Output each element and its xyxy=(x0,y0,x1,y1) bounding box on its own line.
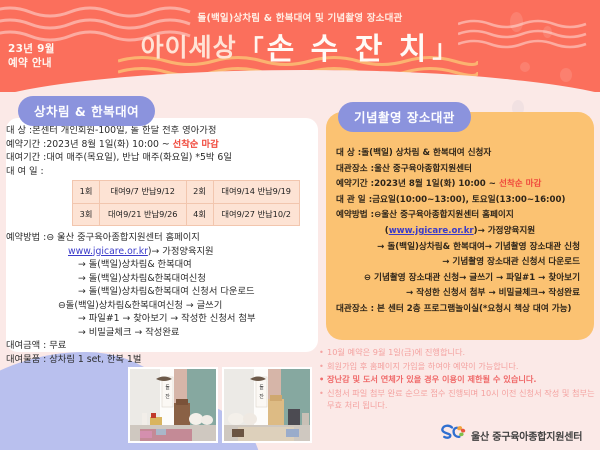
header-title-main: 손 수 잔 치 xyxy=(267,32,430,67)
note-item: 10월 예약은 9월 1일(금)에 진행합니다. xyxy=(318,346,596,359)
left-method-line-1: www.jgicare.or.kr)→ 가정양육지원 xyxy=(6,245,318,259)
right-line-method-value: ⊖울산 중구육아종합지원센터 홈페이지 xyxy=(374,210,514,220)
right-method-text-0: )→ 가정양육지원 xyxy=(474,226,536,236)
right-panel-title-pill: 기념촬영 장소대관 xyxy=(338,102,471,132)
right-method-line-3: ⊖ 기념촬영 장소대관 신청→ 글쓰기 → 파일#1 → 찾아보기 xyxy=(326,271,594,287)
homepage-link[interactable]: www.jgicare.or.kr xyxy=(389,226,474,236)
left-panel-title-pill: 상차림 & 한복대여 xyxy=(18,96,155,126)
svg-text:잔: 잔 xyxy=(165,393,170,400)
left-line-period: 예약기간 : 2023년 8월 1일(화) 10:00 ~ 선착순 마감 xyxy=(6,138,318,152)
sc-swirl-logo-icon xyxy=(440,424,466,446)
right-panel-content: 대 상 : 돌(백일) 상차림 & 한복대여 신청자 대관장소 : 울산 중구육… xyxy=(326,118,594,318)
homepage-link[interactable]: www.jgicare.or.kr xyxy=(68,246,148,257)
left-fee-line: 대여금액 : 무료 xyxy=(6,339,318,353)
left-line-target-label: 대 상 : xyxy=(6,124,32,138)
cell-round-1: 1회 xyxy=(73,181,100,204)
left-method-text-0: ⊖ 울산 중구육아종합지원센터 홈페이지 xyxy=(46,232,200,243)
left-line-period-highlight: 선착순 마감 xyxy=(173,139,219,150)
header-bottom-curve xyxy=(0,70,600,92)
right-line-venue-value: 울산 중구육아종합지원센터 xyxy=(374,164,472,174)
right-venue-line: 대관장소 : 본 센터 2층 프로그램놀이실(*요청시 책상 대여 가능) xyxy=(326,302,594,318)
left-method-line-6: → 파일#1 → 찾아보기 → 작성한 신청서 첨부 xyxy=(6,312,318,326)
left-line-target-value: 본센터 개인회원-100일, 돌 한달 전후 영아가정 xyxy=(32,125,216,136)
left-line-rental-period: 대여기간 : 대여 매주(목요일), 반납 매주(화요일) *5박 6일 xyxy=(6,151,318,165)
cell-dates-3: 대여9/21 반납9/26 xyxy=(100,203,187,226)
right-line-method: 예약방법 : ⊖울산 중구육아종합지원센터 홈페이지 xyxy=(326,208,594,224)
svg-text:돌: 돌 xyxy=(165,385,170,391)
note-item: 장난감 및 도서 연체가 있을 경우 이용이 제한될 수 있습니다. xyxy=(318,373,596,386)
right-method-line-4: → 작성한 신청서 첨부 → 비밀글체크→ 작성완료 xyxy=(326,286,594,302)
table-row: 3회 대여9/21 반납9/26 4회 대여9/27 반납10/2 xyxy=(73,203,300,226)
left-line-rental-date-label: 대 여 일 : xyxy=(6,165,44,179)
poster-header: 23년 9월 예약 안내 돌(백일)상차림 & 한복대여 및 기념촬영 장소대관… xyxy=(0,0,600,92)
bracket-close-icon: 」 xyxy=(429,35,459,63)
right-line-target-value: 돌(백일) 상차림 & 한복대여 신청자 xyxy=(361,148,491,158)
right-line-period-value: 2023년 8월 1일(화) 10:00 ~ xyxy=(374,179,499,189)
right-line-rental-day-label: 대 관 일 : xyxy=(336,193,372,209)
note-item: 회원가입 후 홈페이지 가입을 하여야 예약이 가능합니다. xyxy=(318,360,596,373)
left-method-line-4: → 돌(백일)상차림&한복대여 신청서 다운로드 xyxy=(6,285,318,299)
left-line-target: 대 상 : 본센터 개인회원-100일, 돌 한달 전후 영아가정 xyxy=(6,124,318,138)
svg-text:잔: 잔 xyxy=(259,393,264,400)
right-line-rental-day: 대 관 일 : 금요일(10:00~13:00), 토요일(13:00~16:0… xyxy=(326,193,594,209)
photo-dol-setup-1: 돌 잔 xyxy=(128,367,218,443)
right-line-rental-day-value: 금요일(10:00~13:00), 토요일(13:00~16:00) xyxy=(372,195,565,205)
photo-dol-setup-2: 돌 잔 xyxy=(222,367,312,443)
left-method-line-5: ⊖돌(백일)상차림&한복대여신청 → 글쓰기 xyxy=(6,299,318,313)
note-item: 신청서 파일 첨부 완료 순으로 접수 진행되며 10시 이전 신청서 작성 및… xyxy=(318,387,596,412)
left-method-text-1: )→ 가정양육지원 xyxy=(148,246,214,257)
left-line-rental-period-value: 대여 매주(목요일), 반납 매주(화요일) *5박 6일 xyxy=(46,152,232,163)
left-method-line-0: 예약방법 : ⊖ 울산 중구육아종합지원센터 홈페이지 xyxy=(6,231,318,245)
poster-canvas: 23년 9월 예약 안내 돌(백일)상차림 & 한복대여 및 기념촬영 장소대관… xyxy=(0,0,600,450)
left-item-line: 대여물품 : 상차림 1 set, 한복 1벌 xyxy=(6,353,318,367)
right-line-venue-label: 대관장소 : xyxy=(336,162,374,178)
footer-org-name: 울산 중구육아종합지원센터 xyxy=(471,428,582,443)
right-method-line-1: → 돌(백일)상차림& 한복대여→ 기념촬영 장소대관 신청 xyxy=(326,240,594,256)
cell-round-4: 4회 xyxy=(186,203,213,226)
notes-list: 10월 예약은 9월 1일(금)에 진행합니다. 회원가입 후 홈페이지 가입을… xyxy=(318,346,596,413)
cell-round-3: 3회 xyxy=(73,203,100,226)
table-row: 1회 대여9/7 반납9/12 2회 대여9/14 반납9/19 xyxy=(73,181,300,204)
right-line-target-label: 대 상 : xyxy=(336,146,361,162)
header-title-brand: 아이세상 xyxy=(141,33,237,62)
header-title: 아이세상「손 수 잔 치」 xyxy=(0,24,600,68)
footer-logo: 울산 중구육아종합지원센터 xyxy=(440,424,582,446)
cell-round-2: 2회 xyxy=(186,181,213,204)
dot-decoration-4 xyxy=(560,68,572,82)
right-line-period: 예약기간 : 2023년 8월 1일(화) 10:00 ~ 선착순 마감 xyxy=(326,177,594,193)
left-method-label: 예약방법 : xyxy=(6,231,46,245)
left-line-rental-period-label: 대여기간 : xyxy=(6,151,46,165)
cell-dates-4: 대여9/27 반납10/2 xyxy=(213,203,300,226)
left-line-rental-date: 대 여 일 : xyxy=(6,165,318,179)
svg-text:돌: 돌 xyxy=(259,385,264,391)
right-line-period-label: 예약기간 : xyxy=(336,177,374,193)
left-panel-content: 대 상 : 본센터 개인회원-100일, 돌 한달 전후 영아가정 예약기간 :… xyxy=(6,124,318,366)
right-method-line-0: (www.jgicare.or.kr)→ 가정양육지원 xyxy=(326,224,594,240)
right-line-method-label: 예약방법 : xyxy=(336,208,374,224)
right-line-target: 대 상 : 돌(백일) 상차림 & 한복대여 신청자 xyxy=(326,146,594,162)
cell-dates-2: 대여9/14 반납9/19 xyxy=(213,181,300,204)
header-subtitle: 돌(백일)상차림 & 한복대여 및 기념촬영 장소대관 xyxy=(0,10,600,24)
right-line-venue: 대관장소 : 울산 중구육아종합지원센터 xyxy=(326,162,594,178)
right-line-period-highlight: 선착순 마감 xyxy=(499,179,542,189)
right-method-line-2: → 기념촬영 장소대관 신청서 다운로드 xyxy=(326,255,594,271)
bracket-open-icon: 「 xyxy=(237,35,267,63)
left-line-period-value: 2023년 8월 1일(화) 10:00 ~ xyxy=(46,139,172,150)
left-method-line-7: → 비밀글체크 → 작성완료 xyxy=(6,326,318,340)
cell-dates-1: 대여9/7 반납9/12 xyxy=(100,181,187,204)
left-method-line-3: → 돌(백일)상차림&한복대여신청 xyxy=(6,272,318,286)
left-method-line-2: → 돌(백일)상차림& 한복대여 xyxy=(6,258,318,272)
rental-schedule-table: 1회 대여9/7 반납9/12 2회 대여9/14 반납9/19 3회 대여9/… xyxy=(72,180,300,226)
left-line-period-label: 예약기간 : xyxy=(6,138,46,152)
